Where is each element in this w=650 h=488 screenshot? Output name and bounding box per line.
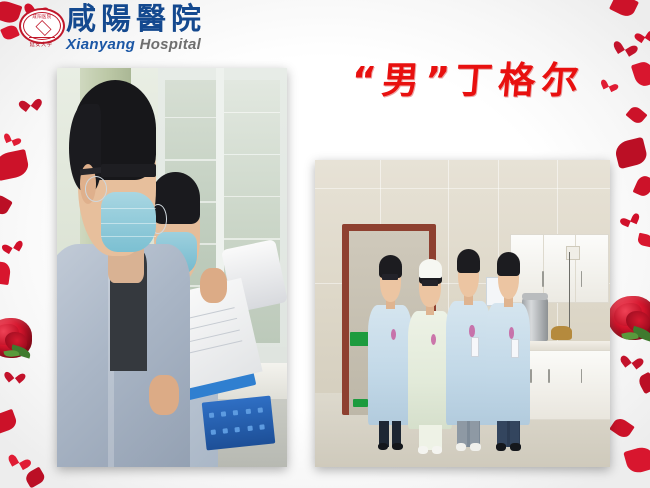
slide-title: “男”丁格尔 — [350, 50, 587, 104]
rose-petal — [623, 445, 650, 476]
medicine-tray — [202, 396, 276, 451]
person-staff-1 — [368, 255, 412, 448]
brand-en-secondary: Hospital — [140, 36, 202, 53]
heart-petal — [21, 94, 38, 110]
person-staff-4 — [486, 252, 530, 448]
heart-petal — [10, 450, 28, 468]
heart-petal — [620, 210, 637, 226]
rose-petal — [637, 233, 650, 248]
slide-canvas: 咸阳医院 延安大学 咸陽醫院 Xianyang Hospital “男”丁格尔 — [0, 0, 650, 488]
rose-petal — [637, 372, 650, 394]
rose-petal — [613, 137, 648, 169]
rose-petal — [0, 192, 13, 217]
photo-right — [315, 160, 610, 467]
hospital-seal-icon: 咸阳医院 — [19, 8, 65, 44]
heart-petal — [7, 367, 22, 381]
red-rose — [0, 318, 32, 358]
photo-left — [57, 68, 287, 467]
brand-name-english: Xianyang Hospital — [66, 36, 201, 54]
rose-petal — [609, 416, 635, 440]
person-staff-3 — [446, 249, 490, 449]
nurse-cap-icon — [419, 259, 442, 278]
brand-name-chinese: 咸陽醫院 — [66, 4, 206, 36]
heart-petal — [602, 76, 617, 90]
brass-pot — [551, 326, 572, 340]
seal-sub-text: 延安大学 — [17, 41, 65, 48]
heart-petal — [5, 130, 20, 145]
eyeglasses-icon — [101, 164, 156, 178]
brand-en-primary: Xianyang — [66, 36, 135, 53]
heart-petal — [623, 351, 640, 367]
rose-petal — [633, 174, 650, 199]
rose-petal — [625, 104, 647, 126]
face-mask-icon — [101, 192, 156, 252]
rose-petal — [23, 467, 46, 488]
rose-petal — [0, 261, 11, 285]
rose-petal — [0, 149, 30, 181]
rose-petal — [0, 409, 19, 434]
heart-petal — [4, 236, 21, 252]
exit-sign-icon — [353, 399, 368, 407]
rose-petal — [631, 59, 650, 88]
red-rose — [608, 296, 650, 340]
